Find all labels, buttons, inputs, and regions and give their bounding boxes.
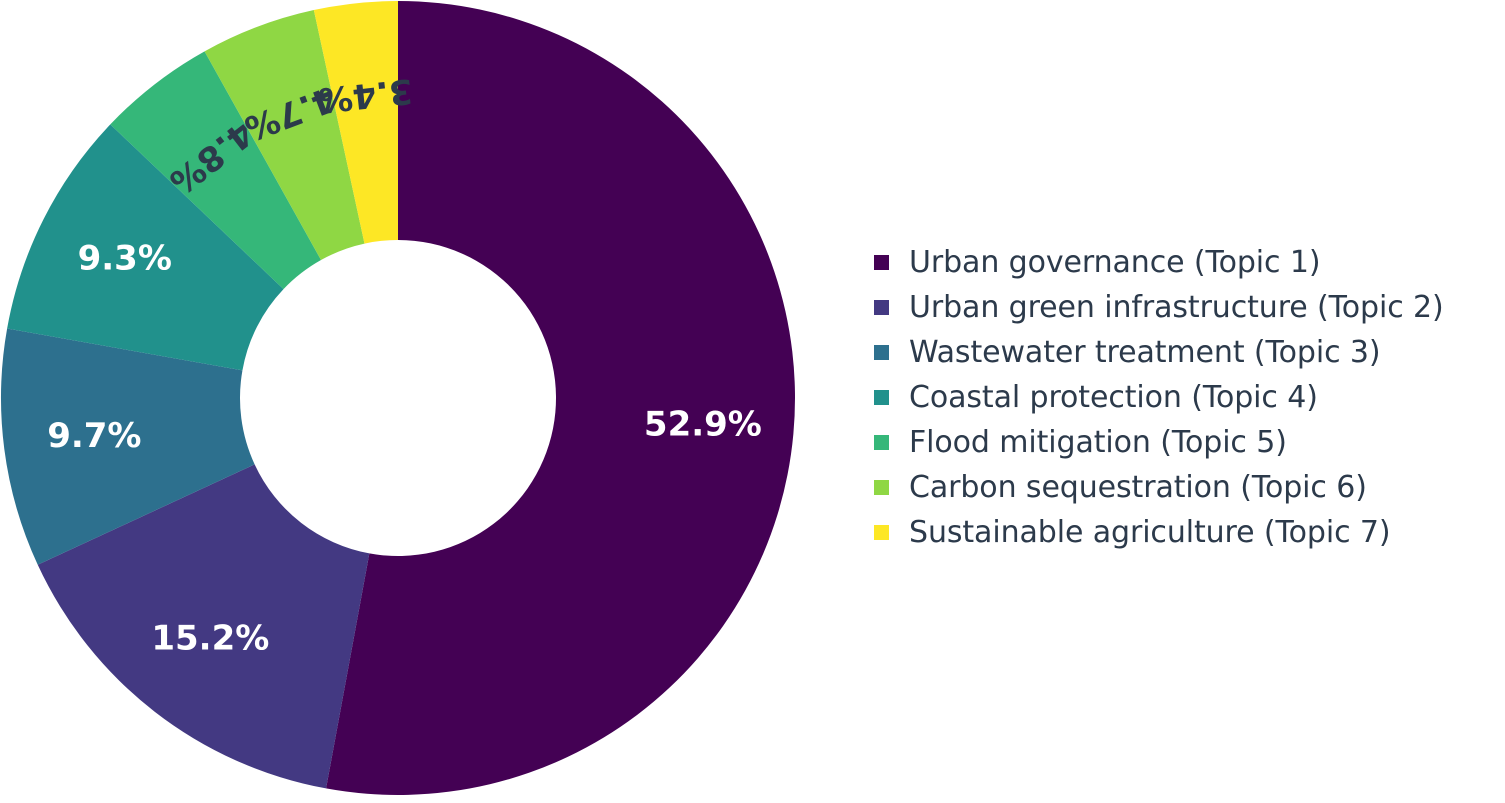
legend-color-swatch bbox=[874, 390, 889, 405]
legend-color-swatch bbox=[874, 480, 889, 495]
legend-item-label: Carbon sequestration (Topic 6) bbox=[909, 470, 1367, 505]
legend-item[interactable]: Coastal protection (Topic 4) bbox=[874, 375, 1494, 420]
legend-color-swatch bbox=[874, 300, 889, 315]
legend-item-label: Sustainable agriculture (Topic 7) bbox=[909, 515, 1391, 550]
legend-item[interactable]: Flood mitigation (Topic 5) bbox=[874, 420, 1494, 465]
donut-chart: 52.9%15.2%9.7%9.3%4.8%4.7%3.4% bbox=[0, 0, 820, 803]
legend-color-swatch bbox=[874, 255, 889, 270]
legend-item[interactable]: Wastewater treatment (Topic 3) bbox=[874, 330, 1494, 375]
pie-slices-group bbox=[1, 1, 795, 795]
legend-item[interactable]: Urban governance (Topic 1) bbox=[874, 240, 1494, 285]
legend-item[interactable]: Urban green infrastructure (Topic 2) bbox=[874, 285, 1494, 330]
legend-item-label: Flood mitigation (Topic 5) bbox=[909, 425, 1287, 460]
pie-slice-value-label: 9.3% bbox=[78, 238, 172, 278]
legend-color-swatch bbox=[874, 345, 889, 360]
pie-slice-value-label: 15.2% bbox=[151, 618, 269, 658]
pie-slice-value-label: 9.7% bbox=[47, 416, 141, 456]
chart-legend: Urban governance (Topic 1)Urban green in… bbox=[874, 240, 1494, 555]
legend-color-swatch bbox=[874, 435, 889, 450]
legend-item-label: Urban governance (Topic 1) bbox=[909, 245, 1320, 280]
legend-item[interactable]: Sustainable agriculture (Topic 7) bbox=[874, 510, 1494, 555]
legend-item-label: Coastal protection (Topic 4) bbox=[909, 380, 1318, 415]
legend-item-label: Wastewater treatment (Topic 3) bbox=[909, 335, 1381, 370]
legend-item-label: Urban green infrastructure (Topic 2) bbox=[909, 290, 1444, 325]
legend-color-swatch bbox=[874, 525, 889, 540]
pie-chart-figure: 52.9%15.2%9.7%9.3%4.8%4.7%3.4% Urban gov… bbox=[0, 0, 1505, 803]
legend-item[interactable]: Carbon sequestration (Topic 6) bbox=[874, 465, 1494, 510]
pie-slice-value-label: 52.9% bbox=[644, 404, 762, 444]
